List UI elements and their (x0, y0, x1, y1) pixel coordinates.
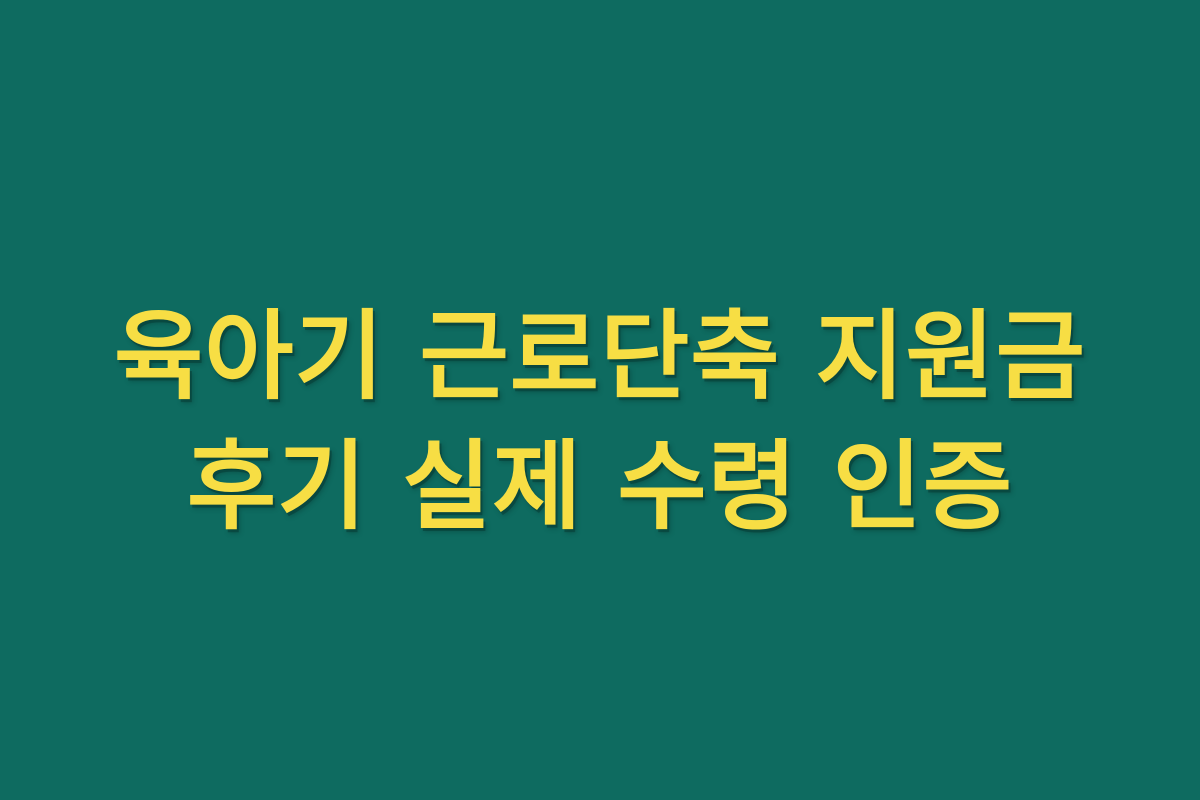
title-line-2: 후기 실제 수령 인증 (40, 422, 1160, 552)
title-line-1: 육아기 근로단축 지원금 (40, 292, 1160, 422)
title-block: 육아기 근로단축 지원금 후기 실제 수령 인증 (0, 292, 1200, 552)
thumbnail-canvas: 육아기 근로단축 지원금 후기 실제 수령 인증 (0, 0, 1200, 800)
